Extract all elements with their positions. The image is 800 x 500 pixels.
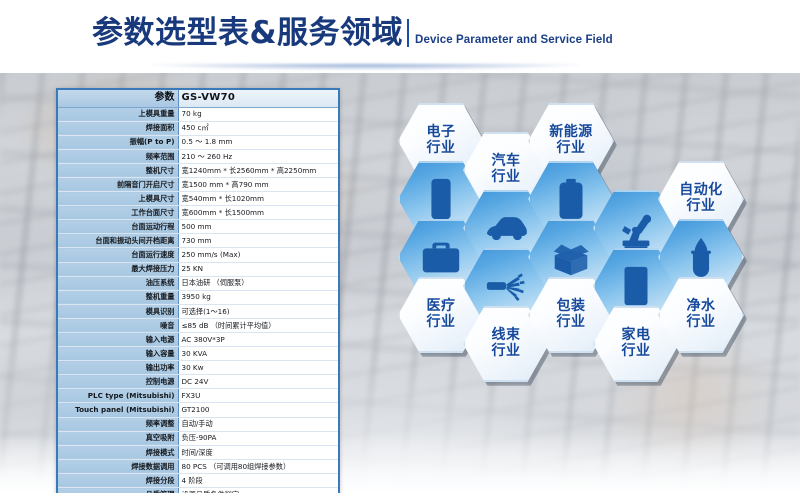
spec-label: 台面运行速度 [58, 248, 178, 262]
spec-label: 频率调整 [58, 417, 178, 431]
spec-value: 450 c㎡ [178, 121, 338, 135]
spec-table-row: 工作台面尺寸宽600mm * 长1500mm [58, 206, 338, 220]
spec-label: 油压系统 [58, 276, 178, 290]
column-header-parameter: 参数 [58, 90, 178, 107]
spec-value: FX3U [178, 389, 338, 403]
hex-label-text: 家电行业 [622, 328, 651, 359]
spec-table-row: 整机重量3950 kg [58, 290, 338, 304]
spec-table-row: 台面运动行程500 mm [58, 220, 338, 234]
spec-value: DC 24V [178, 375, 338, 389]
spec-table-row: 振幅(P to P)0.5 ～ 1.8 mm [58, 135, 338, 149]
spec-table-row: 输入容量30 KVA [58, 347, 338, 361]
refrigerator-icon [613, 263, 659, 309]
spec-value: 可选择(1～16) [178, 304, 338, 318]
spec-label: 上模具重量 [58, 107, 178, 121]
spec-value: 25 KN [178, 262, 338, 276]
spec-value: 自动/手动 [178, 417, 338, 431]
hex-label-text: 线束行业 [492, 328, 521, 359]
spec-label: 焊接面积 [58, 121, 178, 135]
industry-hex-grid: 电子行业医疗行业汽车行业线束行业新能源行业Li包装行业家电行业自动化行业净水行业 [380, 90, 800, 500]
spec-table-row: 控制电源DC 24V [58, 375, 338, 389]
spec-label: 工作台面尺寸 [58, 206, 178, 220]
spec-label: 频率范围 [58, 149, 178, 163]
spec-value: 250 mm/s (Max) [178, 248, 338, 262]
open-box-icon [548, 234, 594, 280]
spec-table-row: 焊接数据调用80 PCS （可调用80组焊接参数） [58, 459, 338, 473]
hex-label-text: 医疗行业 [427, 299, 456, 330]
hex-label-text: 新能源行业 [549, 125, 593, 156]
spec-value: 30 Kw [178, 361, 338, 375]
spec-table-header-row: 参数GS-VW70 [58, 90, 338, 107]
spec-value: 宽1500 mm * 高790 mm [178, 177, 338, 191]
page-title-cn: 参数选型表&服务领域 [92, 18, 403, 49]
spec-table-row: PLC type (Mitsubishi)FX3U [58, 389, 338, 403]
spec-table-row: 台面和振动头间开档距离730 mm [58, 234, 338, 248]
spec-label: 台面运动行程 [58, 220, 178, 234]
spec-value: 30 KVA [178, 347, 338, 361]
column-header-model: GS-VW70 [178, 90, 338, 107]
page-title-en: Device Parameter and Service Field [415, 35, 613, 50]
svg-text:Li: Li [564, 194, 578, 210]
spec-label: 振幅(P to P) [58, 135, 178, 149]
hex-label-text: 净水行业 [687, 299, 716, 330]
spec-label: 模具识别 [58, 304, 178, 318]
spec-table-row: 最大焊接压力25 KN [58, 262, 338, 276]
spec-value: GT2100 [178, 403, 338, 417]
spec-label: 整机尺寸 [58, 163, 178, 177]
spec-value: 宽540mm * 长1020mm [178, 192, 338, 206]
spec-label: 上模具尺寸 [58, 192, 178, 206]
spec-table: 参数GS-VW70上模具重量70 kg焊接面积450 c㎡振幅(P to P)0… [58, 90, 338, 500]
spec-value: 日本油研 （伺服泵） [178, 276, 338, 290]
spec-value: 730 mm [178, 234, 338, 248]
spec-value: 4 阶段 [178, 473, 338, 487]
water-tube-icon [678, 234, 724, 280]
hex-label-text: 自动化行业 [679, 183, 723, 214]
spec-label: Touch panel (Mitsubishi) [58, 403, 178, 417]
spec-label: PLC type (Mitsubishi) [58, 389, 178, 403]
spec-table-row: 焊接模式时间/深度 [58, 445, 338, 459]
spec-value: 负压-90PA [178, 431, 338, 445]
spec-label: 台面和振动头间开档距离 [58, 234, 178, 248]
spec-value: AC 380V*3P [178, 333, 338, 347]
spec-table-row: 焊接面积450 c㎡ [58, 121, 338, 135]
spec-table-row: 真空吸附负压-90PA [58, 431, 338, 445]
spec-table-row: 焊接分段4 阶段 [58, 473, 338, 487]
spec-label: 控制电源 [58, 375, 178, 389]
spec-table-row: 模具识别可选择(1～16) [58, 304, 338, 318]
spec-label: 噪音 [58, 318, 178, 332]
spec-table-row: Touch panel (Mitsubishi)GT2100 [58, 403, 338, 417]
spec-table-row: 上模具重量70 kg [58, 107, 338, 121]
footer-white-strip [0, 493, 800, 500]
spec-value: ≤85 dB （时间累计平均值） [178, 318, 338, 332]
spec-table-row: 频率调整自动/手动 [58, 417, 338, 431]
page-root: 参数选型表&服务领域 Device Parameter and Service … [0, 0, 800, 500]
spec-value: 宽1240mm * 长2560mm * 高2250mm [178, 163, 338, 177]
spec-label: 输入容量 [58, 347, 178, 361]
medical-kit-icon [418, 234, 464, 280]
spec-label: 整机重量 [58, 290, 178, 304]
title-divider [407, 19, 409, 47]
robot-arm-icon [613, 205, 659, 251]
spec-table-row: 输入电源AC 380V*3P [58, 333, 338, 347]
spec-table-row: 频率范围210 ～ 260 Hz [58, 149, 338, 163]
spec-value: 210 ～ 260 Hz [178, 149, 338, 163]
spec-label: 焊接数据调用 [58, 459, 178, 473]
spec-table-row: 油压系统日本油研 （伺服泵） [58, 276, 338, 290]
spec-value: 80 PCS （可调用80组焊接参数） [178, 459, 338, 473]
spec-label: 前隔音门开启尺寸 [58, 177, 178, 191]
spec-value: 3950 kg [178, 290, 338, 304]
spec-label: 焊接分段 [58, 473, 178, 487]
wire-harness-icon [483, 263, 529, 309]
spec-table-row: 台面运行速度250 mm/s (Max) [58, 248, 338, 262]
li-battery-icon: Li [548, 176, 594, 222]
car-icon [483, 205, 529, 251]
spec-table-row: 整机尺寸宽1240mm * 长2560mm * 高2250mm [58, 163, 338, 177]
page-header: 参数选型表&服务领域 Device Parameter and Service … [0, 0, 800, 73]
spec-value: 时间/深度 [178, 445, 338, 459]
spec-value: 70 kg [178, 107, 338, 121]
title-underline-glow [150, 64, 580, 70]
spec-table-row: 上模具尺寸宽540mm * 长1020mm [58, 192, 338, 206]
hex-label-text: 包装行业 [557, 299, 586, 330]
spec-label: 输入电源 [58, 333, 178, 347]
hex-label-text: 电子行业 [427, 125, 456, 156]
spec-label: 最大焊接压力 [58, 262, 178, 276]
spec-label: 真空吸附 [58, 431, 178, 445]
spec-value: 宽600mm * 长1500mm [178, 206, 338, 220]
spec-table-row: 前隔音门开启尺寸宽1500 mm * 高790 mm [58, 177, 338, 191]
spec-table-container: 参数GS-VW70上模具重量70 kg焊接面积450 c㎡振幅(P to P)0… [56, 88, 340, 500]
spec-table-row: 输出功率30 Kw [58, 361, 338, 375]
spec-label: 输出功率 [58, 361, 178, 375]
hex-label-text: 汽车行业 [492, 154, 521, 185]
spec-value: 0.5 ～ 1.8 mm [178, 135, 338, 149]
spec-label: 焊接模式 [58, 445, 178, 459]
spec-value: 500 mm [178, 220, 338, 234]
spec-table-row: 噪音≤85 dB （时间累计平均值） [58, 318, 338, 332]
smartphone-icon [418, 176, 464, 222]
